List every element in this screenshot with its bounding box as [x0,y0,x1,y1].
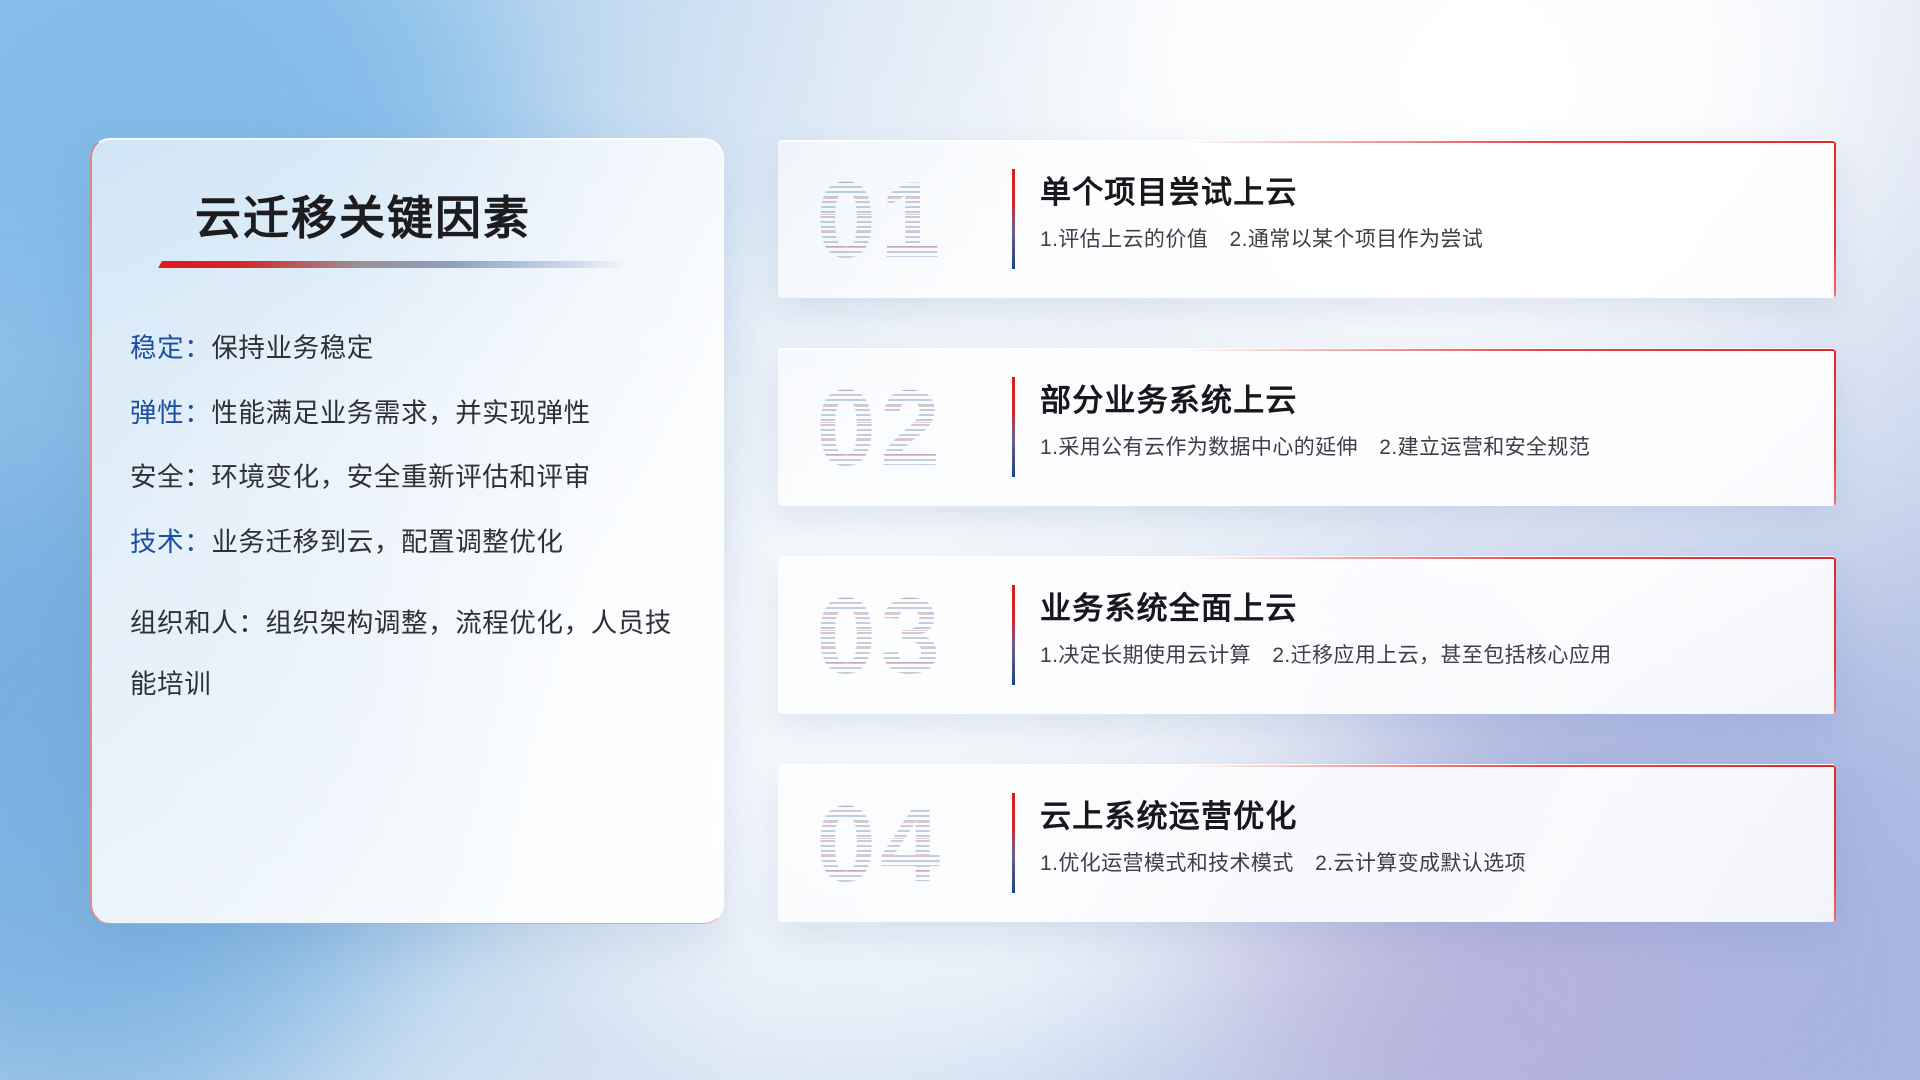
stage-title: 业务系统全面上云 [1040,583,1298,628]
stage-description: 1.采用公有云作为数据中心的延伸 2.建立运营和安全规范 [1040,431,1590,461]
title-underline-gradient [158,261,632,268]
stage-accent-bar [1012,585,1015,685]
panel-title: 云迁移关键因素 [195,182,531,248]
stage-description: 1.优化运营模式和技术模式 2.云计算变成默认选项 [1040,847,1526,877]
stage-accent-bar [1012,169,1015,269]
stage-title: 云上系统运营优化 [1040,791,1298,836]
stage-number-watermark-overlay: 03 [816,582,944,690]
stage-card-04[interactable]: 04 04 云上系统运营优化 1.优化运营模式和技术模式 2.云计算变成默认选项 [778,764,1836,922]
list-item-label: 技术： [130,527,211,557]
list-item: 稳定：保持业务稳定 [130,335,690,362]
stage-number-watermark-overlay: 02 [816,374,944,482]
list-item: 技术：业务迁移到云，配置调整优化 [130,529,690,556]
list-item-text: 性能满足业务需求，并实现弹性 [211,398,590,428]
list-item-label: 弹性： [130,398,211,428]
stage-accent-bar [1012,377,1015,477]
list-item-text: 保持业务稳定 [211,333,374,363]
list-item-label: 安全： [130,462,211,492]
stage-number-watermark-overlay: 01 [816,166,944,274]
stage-card-01[interactable]: 01 01 单个项目尝试上云 1.评估上云的价值 2.通常以某个项目作为尝试 [778,140,1836,298]
list-item-label: 组织和人： [130,608,266,638]
stage-card-02[interactable]: 02 02 部分业务系统上云 1.采用公有云作为数据中心的延伸 2.建立运营和安… [778,348,1836,506]
stage-title: 部分业务系统上云 [1040,375,1298,420]
list-item: 安全：环境变化，安全重新评估和评审 [130,464,690,491]
key-factors-panel: 云迁移关键因素 稳定：保持业务稳定 弹性：性能满足业务需求，并实现弹性 安全：环… [90,138,724,924]
list-item-label: 稳定： [130,333,211,363]
key-factors-list: 稳定：保持业务稳定 弹性：性能满足业务需求，并实现弹性 安全：环境变化，安全重新… [130,335,690,753]
stage-description: 1.决定长期使用云计算 2.迁移应用上云，甚至包括核心应用 [1040,639,1612,669]
list-item-text: 环境变化，安全重新评估和评审 [211,462,590,492]
slide-canvas: 云迁移关键因素 稳定：保持业务稳定 弹性：性能满足业务需求，并实现弹性 安全：环… [0,0,1920,1080]
stage-accent-bar [1012,793,1015,893]
stage-card-03[interactable]: 03 03 业务系统全面上云 1.决定长期使用云计算 2.迁移应用上云，甚至包括… [778,556,1836,714]
stage-title: 单个项目尝试上云 [1040,167,1298,212]
list-item: 弹性：性能满足业务需求，并实现弹性 [130,400,690,427]
stage-description: 1.评估上云的价值 2.通常以某个项目作为尝试 [1040,223,1483,253]
list-item-text: 业务迁移到云，配置调整优化 [211,527,563,557]
list-item: 组织和人：组织架构调整，流程优化，人员技能培训 [130,593,690,715]
stage-number-watermark-overlay: 04 [816,790,944,898]
